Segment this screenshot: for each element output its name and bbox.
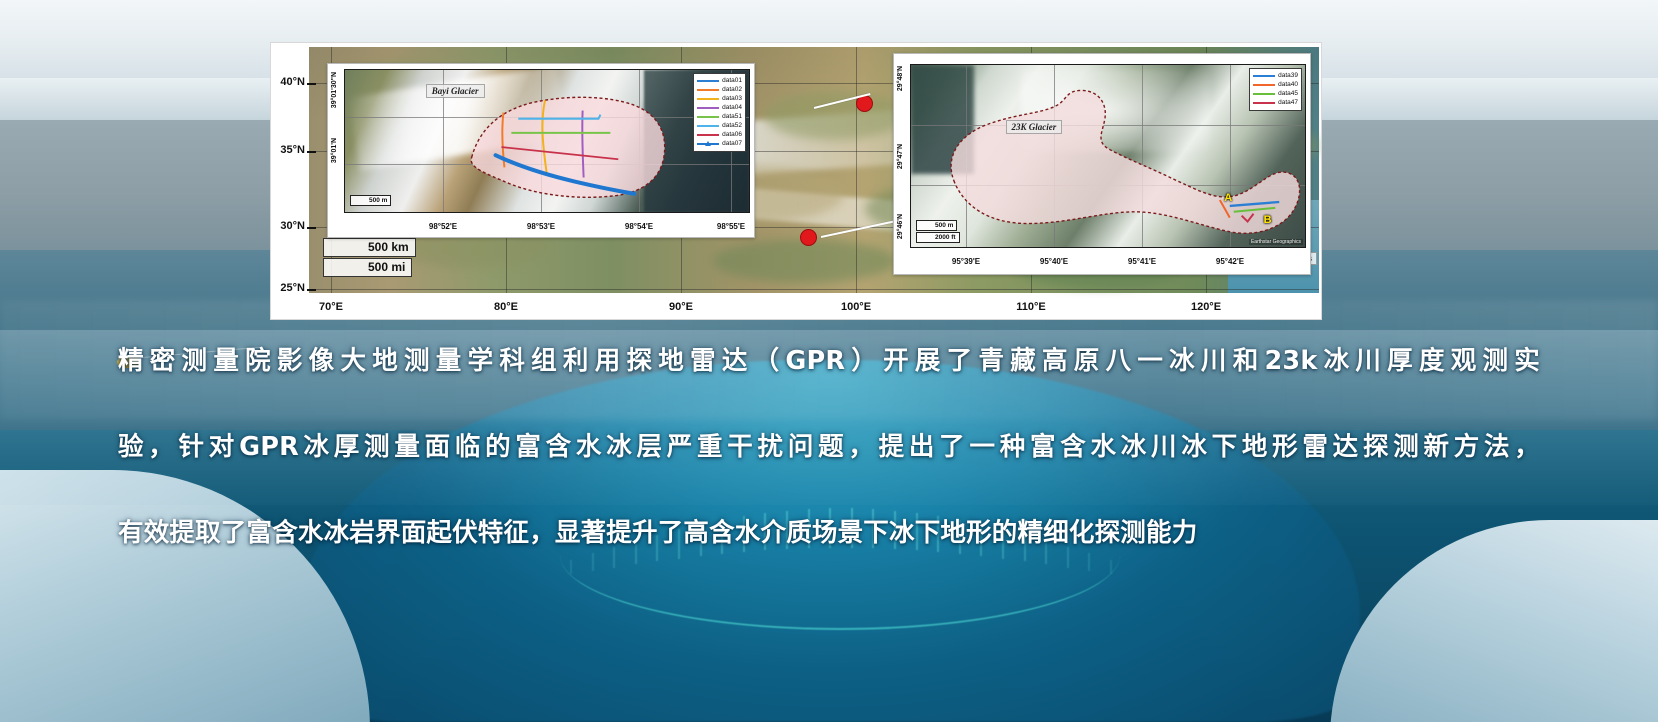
inset-right-point-label-a: A [1224, 192, 1232, 204]
main-map-xtick-label: 120°E [1191, 301, 1221, 313]
site-marker-23k-glacier[interactable] [800, 229, 817, 246]
caption-line-1: 精密测量院影像大地测量学科组利用探地雷达（GPR）开展了青藏高原八一冰川和23k… [118, 340, 1540, 426]
legend-label: data01 [722, 77, 742, 85]
legend-item: data40 [1253, 81, 1298, 89]
caption-block: 精密测量院影像大地测量学科组利用探地雷达（GPR）开展了青藏高原八一冰川和23k… [0, 340, 1658, 598]
main-map-ytick-mark [307, 227, 316, 229]
map-figure: Earthstar Geographics 40°N35°N30°N25°N 7… [270, 42, 1322, 320]
legend-label: data40 [1278, 81, 1298, 89]
inset-right-scalebar-ft: 2000 ft [916, 232, 960, 243]
legend-label: data47 [1278, 99, 1298, 107]
inset-bayi-glacier[interactable]: 39°01'30"N 39°01'N [327, 63, 755, 238]
legend-label: data03 [722, 95, 742, 103]
legend-item: data47 [1253, 99, 1298, 107]
legend-swatch [697, 98, 719, 100]
terrain-patch [764, 91, 905, 140]
inset-left-glacier-label: Bayi Glacier [426, 84, 485, 98]
caption-line-3: 有效提取了富含水冰岩界面起伏特征，显著提升了高含水介质场景下冰下地形的精细化探测… [118, 512, 1540, 598]
legend-item: data04 [697, 104, 742, 112]
inset-right-attribution: Earthstar Geographics [1249, 239, 1303, 245]
legend-item: data45 [1253, 90, 1298, 98]
legend-label: data06 [722, 131, 742, 139]
legend-swatch [697, 116, 719, 118]
inset-xtick-label: 95°42'E [1216, 257, 1244, 266]
inset-left-survey-tracks [345, 70, 749, 212]
inset-23k-glacier[interactable]: 29°48'N 29°47'N 29°46'N 23K Glacier [893, 53, 1311, 275]
legend-swatch [1253, 93, 1275, 95]
inset-right-survey-tracks [911, 65, 1305, 247]
main-map-ytick-mark [307, 289, 316, 291]
inset-right-glacier-label: 23K Glacier [1006, 120, 1063, 134]
caption-line-2: 验，针对GPR冰厚测量面临的富含水冰层严重干扰问题，提出了一种富含水冰川冰下地形… [118, 426, 1540, 512]
main-map-ytick-label: 35°N [271, 144, 305, 156]
legend-swatch [697, 143, 719, 145]
inset-xtick-label: 95°41'E [1128, 257, 1156, 266]
inset-left-ytick-1: 39°01'N [331, 138, 338, 163]
scalebar-km: 500 km [323, 238, 416, 257]
legend-swatch [1253, 75, 1275, 77]
main-map-xtick-label: 80°E [494, 301, 518, 313]
main-map-xtick-label: 70°E [319, 301, 343, 313]
legend-item: data07 [697, 140, 742, 148]
inset-xtick-label: 95°39'E [952, 257, 980, 266]
legend-swatch [697, 107, 719, 109]
inset-right-plot: 23K Glacier A B 500 m 2000 ft Earthstar … [910, 64, 1306, 248]
legend-swatch [1253, 84, 1275, 86]
main-map-ytick-label: 25°N [271, 282, 305, 294]
main-map-xtick-label: 90°E [669, 301, 693, 313]
main-map-ytick-mark [307, 83, 316, 85]
main-map-xtick-label: 110°E [1016, 301, 1045, 313]
main-map-ytick-label: 40°N [271, 76, 305, 88]
scalebar-mi: 500 mi [323, 258, 412, 277]
legend-item: data03 [697, 95, 742, 103]
legend-label: data45 [1278, 90, 1298, 98]
legend-item: data06 [697, 131, 742, 139]
legend-swatch [697, 134, 719, 136]
inset-xtick-label: 98°54'E [625, 222, 653, 231]
legend-swatch [697, 89, 719, 91]
inset-left-plot: Bayi Glacier 500 m data01data02data03dat… [344, 69, 750, 213]
legend-item: data39 [1253, 72, 1298, 80]
terrain-patch [713, 239, 895, 283]
legend-item: data02 [697, 86, 742, 94]
main-map-ytick-mark [307, 151, 316, 153]
inset-left-ytick-0: 39°01'30"N [331, 72, 338, 108]
legend-swatch [697, 125, 719, 127]
legend-item: data01 [697, 77, 742, 85]
inset-right-ytick-2: 29°46'N [897, 214, 904, 239]
inset-right-legend[interactable]: data39data40data45data47 [1249, 68, 1302, 111]
legend-item: data52 [697, 122, 742, 130]
main-map-xtick-label: 100°E [841, 301, 871, 313]
inset-left-scalebar: 500 m [350, 195, 391, 206]
inset-xtick-label: 98°55'E [717, 222, 745, 231]
legend-label: data51 [722, 113, 742, 121]
legend-label: data02 [722, 86, 742, 94]
inset-right-point-label-b: B [1264, 214, 1272, 226]
inset-right-scalebar-m: 500 m [916, 220, 957, 231]
inset-left-legend[interactable]: data01data02data03data04data51data52data… [693, 73, 746, 152]
slide-root: Earthstar Geographics 40°N35°N30°N25°N 7… [0, 0, 1658, 722]
legend-label: data52 [722, 122, 742, 130]
inset-xtick-label: 98°52'E [429, 222, 457, 231]
inset-xtick-label: 98°53'E [527, 222, 555, 231]
legend-label: data04 [722, 104, 742, 112]
legend-swatch [697, 80, 719, 82]
graticule-line [309, 289, 1319, 290]
inset-right-ytick-1: 29°47'N [897, 144, 904, 169]
legend-label: data39 [1278, 72, 1298, 80]
main-map-ytick-label: 30°N [271, 220, 305, 232]
legend-label: data07 [722, 140, 742, 148]
inset-xtick-label: 95°40'E [1040, 257, 1068, 266]
legend-item: data51 [697, 113, 742, 121]
legend-swatch [1253, 102, 1275, 104]
inset-right-ytick-0: 29°48'N [897, 66, 904, 91]
